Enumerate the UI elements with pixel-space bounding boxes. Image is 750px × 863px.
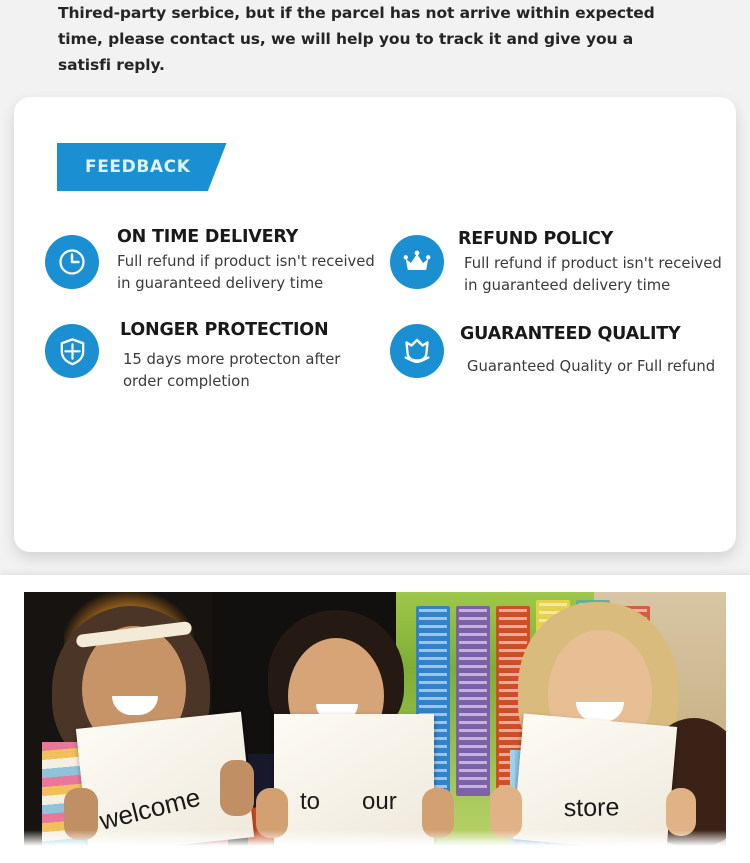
photo-hand <box>220 760 254 816</box>
photo-sign-word: welcome <box>96 782 203 837</box>
intro-line-1: Thired-party serbice, but if the parcel … <box>58 0 668 26</box>
feature-description: Full refund if product isn't received in… <box>117 251 375 295</box>
feature-text-refund-policy: REFUND POLICY Full refund if product isn… <box>444 225 722 297</box>
feature-description: Guaranteed Quality or Full refund <box>460 356 715 378</box>
photo-sign-store: store <box>513 714 677 846</box>
feature-description: 15 days more protecton after order compl… <box>120 349 340 393</box>
shield-icon <box>45 324 99 378</box>
feature-text-longer-protection: LONGER PROTECTION 15 days more protecton… <box>99 318 340 393</box>
intro-paragraph: Thired-party serbice, but if the parcel … <box>58 0 668 78</box>
feedback-feature-grid: ON TIME DELIVERY Full refund if product … <box>14 225 736 393</box>
feedback-card: FEEDBACK ON TIME DELIVERY Full refund if… <box>14 97 736 552</box>
photo-sign-word: to <box>300 788 320 816</box>
feature-item-longer-protection: LONGER PROTECTION 15 days more protecton… <box>14 318 386 393</box>
photo-sign-word: store <box>564 793 620 823</box>
photo-bottom-fade <box>24 830 726 846</box>
photo-wallchart <box>456 606 490 796</box>
feature-title: ON TIME DELIVERY <box>117 225 375 249</box>
feature-title: REFUND POLICY <box>458 227 722 251</box>
intro-line-2: time, please contact us, we will help yo… <box>58 26 668 52</box>
feature-title: LONGER PROTECTION <box>120 318 340 342</box>
photo-strip: welcome to our store <box>0 575 750 863</box>
feedback-banner: FEEDBACK <box>57 143 227 191</box>
feature-item-refund-policy: REFUND POLICY Full refund if product isn… <box>386 225 736 297</box>
intro-line-3: satisfi reply. <box>58 52 668 78</box>
feedback-banner-label: FEEDBACK <box>85 157 191 177</box>
welcome-to-our-store-photo: welcome to our store <box>24 592 726 846</box>
feature-title: GUARANTEED QUALITY <box>460 322 715 346</box>
feature-text-guaranteed-quality: GUARANTEED QUALITY Guaranteed Quality or… <box>444 318 715 378</box>
feature-item-guaranteed-quality: GUARANTEED QUALITY Guaranteed Quality or… <box>386 318 736 393</box>
clock-icon <box>45 235 99 289</box>
photo-sign-word: our <box>362 788 397 816</box>
photo-sign-to-our: to our <box>274 714 434 846</box>
flower-shield-icon <box>390 324 444 378</box>
feature-text-on-time-delivery: ON TIME DELIVERY Full refund if product … <box>99 225 375 295</box>
feature-item-on-time-delivery: ON TIME DELIVERY Full refund if product … <box>14 225 386 297</box>
feature-description: Full refund if product isn't received in… <box>458 253 722 297</box>
crown-icon <box>390 235 444 289</box>
photo-hand <box>666 788 696 836</box>
